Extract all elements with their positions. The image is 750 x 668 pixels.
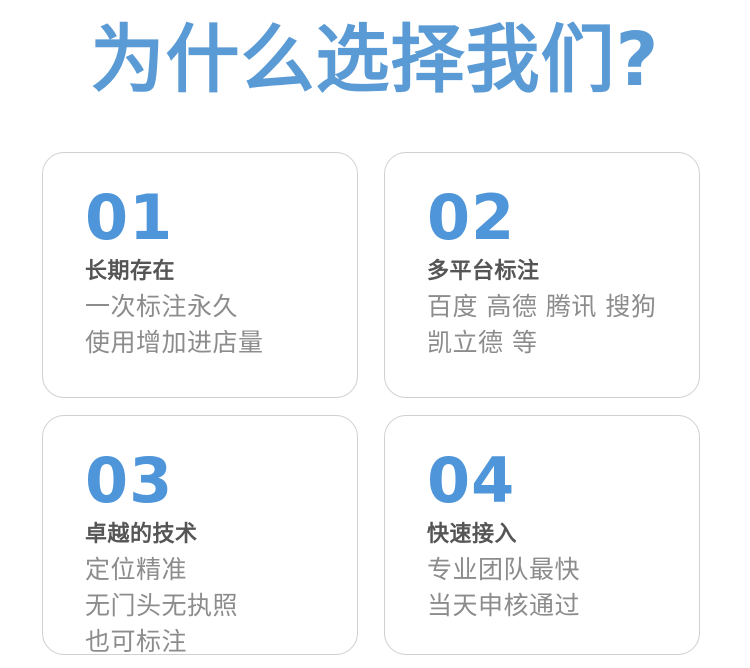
card-description: 专业团队最快 当天申核通过 xyxy=(427,552,681,624)
card-description: 百度 高德 腾讯 搜狗 凯立德 等 xyxy=(427,289,681,361)
feature-card-04[interactable]: 04 快速接入 专业团队最快 当天申核通过 xyxy=(384,415,700,655)
card-description-line: 当天申核通过 xyxy=(427,588,681,624)
card-number: 02 xyxy=(427,189,681,247)
feature-card-grid: 01 长期存在 一次标注永久 使用增加进店量 02 多平台标注 百度 高德 腾讯… xyxy=(42,152,700,655)
card-description-line: 也可标注 xyxy=(85,624,339,655)
card-number: 03 xyxy=(85,452,339,510)
card-number: 04 xyxy=(427,452,681,510)
card-description: 一次标注永久 使用增加进店量 xyxy=(85,289,339,361)
card-title: 卓越的技术 xyxy=(85,520,339,550)
card-description-line: 百度 高德 腾讯 搜狗 xyxy=(427,289,681,325)
card-number: 01 xyxy=(85,189,339,247)
card-title: 长期存在 xyxy=(85,257,339,287)
card-title: 多平台标注 xyxy=(427,257,681,287)
card-description-line: 专业团队最快 xyxy=(427,552,681,588)
card-description-line: 使用增加进店量 xyxy=(85,325,339,361)
card-description: 定位精准 无门头无执照 也可标注 xyxy=(85,552,339,655)
promo-feature-page: 为什么选择我们? 01 长期存在 一次标注永久 使用增加进店量 02 多平台标注… xyxy=(0,0,750,668)
card-description-line: 无门头无执照 xyxy=(85,588,339,624)
card-description-line: 凯立德 等 xyxy=(427,325,681,361)
card-title: 快速接入 xyxy=(427,520,681,550)
card-description-line: 一次标注永久 xyxy=(85,289,339,325)
page-title: 为什么选择我们? xyxy=(0,14,750,106)
feature-card-03[interactable]: 03 卓越的技术 定位精准 无门头无执照 也可标注 xyxy=(42,415,358,655)
card-description-line: 定位精准 xyxy=(85,552,339,588)
feature-card-02[interactable]: 02 多平台标注 百度 高德 腾讯 搜狗 凯立德 等 xyxy=(384,152,700,398)
feature-card-01[interactable]: 01 长期存在 一次标注永久 使用增加进店量 xyxy=(42,152,358,398)
